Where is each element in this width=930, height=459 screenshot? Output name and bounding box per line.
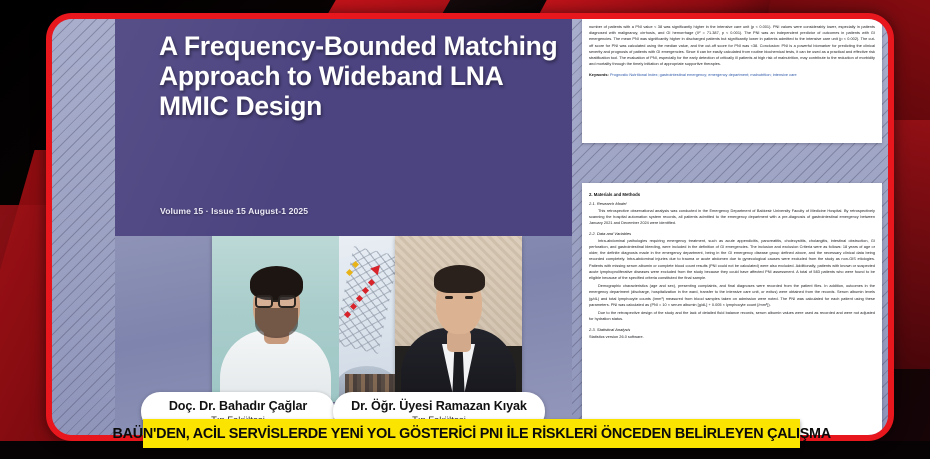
data-variables-paragraph-3: Due to the retrospective design of the s… <box>589 310 875 322</box>
flow-arrow-dots <box>345 272 387 350</box>
headline-text: BAÜN'DEN, ACİL SERVİSLERDE YENİ YOL GÖST… <box>112 426 830 442</box>
keywords-values: Prognostic Nutritional Index; gastrointe… <box>610 73 797 77</box>
left-pane: A Frequency-Bounded Matching Approach to… <box>115 19 572 435</box>
person-name: Dr. Öğr. Üyesi Ramazan Kıyak <box>351 399 527 413</box>
data-variables-paragraph-2: Demographic characteristics (age and sex… <box>589 283 875 308</box>
portrait-glasses-left-lens <box>255 295 273 308</box>
medical-stent-graphic <box>339 236 395 402</box>
content-frame: A Frequency-Bounded Matching Approach to… <box>46 13 894 441</box>
portrait-beard <box>255 308 298 338</box>
section-heading: 2. Materials and Methods <box>589 192 875 197</box>
journal-cover: A Frequency-Bounded Matching Approach to… <box>115 19 572 236</box>
keywords-label: Keywords: <box>589 73 609 77</box>
portrait-glasses-right-lens <box>278 295 296 308</box>
portrait-right-eye <box>465 296 473 299</box>
portrait-hair <box>434 265 485 293</box>
subsection-heading-data-variables: 2.2. Data and Variables <box>589 231 875 236</box>
portraits-band: Doç. Dr. Bahadır Çağlar Tıp Fakültesi Dr… <box>115 236 572 435</box>
abstract-tail-text: number of patients with a PNI value < 38… <box>589 24 875 68</box>
portrait-left-eye <box>445 296 453 299</box>
headline-banner: BAÜN'DEN, ACİL SERVİSLERDE YENİ YOL GÖST… <box>143 419 800 448</box>
subsection-heading-statistical-analysis: 2.3. Statistical Analysis <box>589 327 875 332</box>
subsection-heading-research-model: 2.1. Research Model <box>589 201 875 206</box>
paper-pane: number of patients with a PNI value < 38… <box>572 19 894 435</box>
paper-page-methods: 2. Materials and Methods 2.1. Research M… <box>582 183 882 435</box>
statistical-analysis-body: Statistics version 26.0 software. <box>589 334 875 340</box>
research-model-body: This retrospective observational analysi… <box>589 208 875 227</box>
portrait-photo-ramazan-kiyak <box>395 236 522 402</box>
portrait-photo-bahadir-caglar <box>212 236 339 402</box>
data-variables-paragraph-1: Intra-abdominal pathologies requiring em… <box>589 238 875 282</box>
keywords-line: Keywords: Prognostic Nutritional Index; … <box>589 72 875 78</box>
paper-page-abstract: number of patients with a PNI value < 38… <box>582 19 882 143</box>
journal-cover-title: A Frequency-Bounded Matching Approach to… <box>159 31 559 122</box>
person-name: Doç. Dr. Bahadır Çağlar <box>169 399 307 413</box>
journal-cover-volume: Volume 15 · Issue 15 August-1 2025 <box>160 206 308 216</box>
portrait-glasses-bridge <box>273 300 279 302</box>
